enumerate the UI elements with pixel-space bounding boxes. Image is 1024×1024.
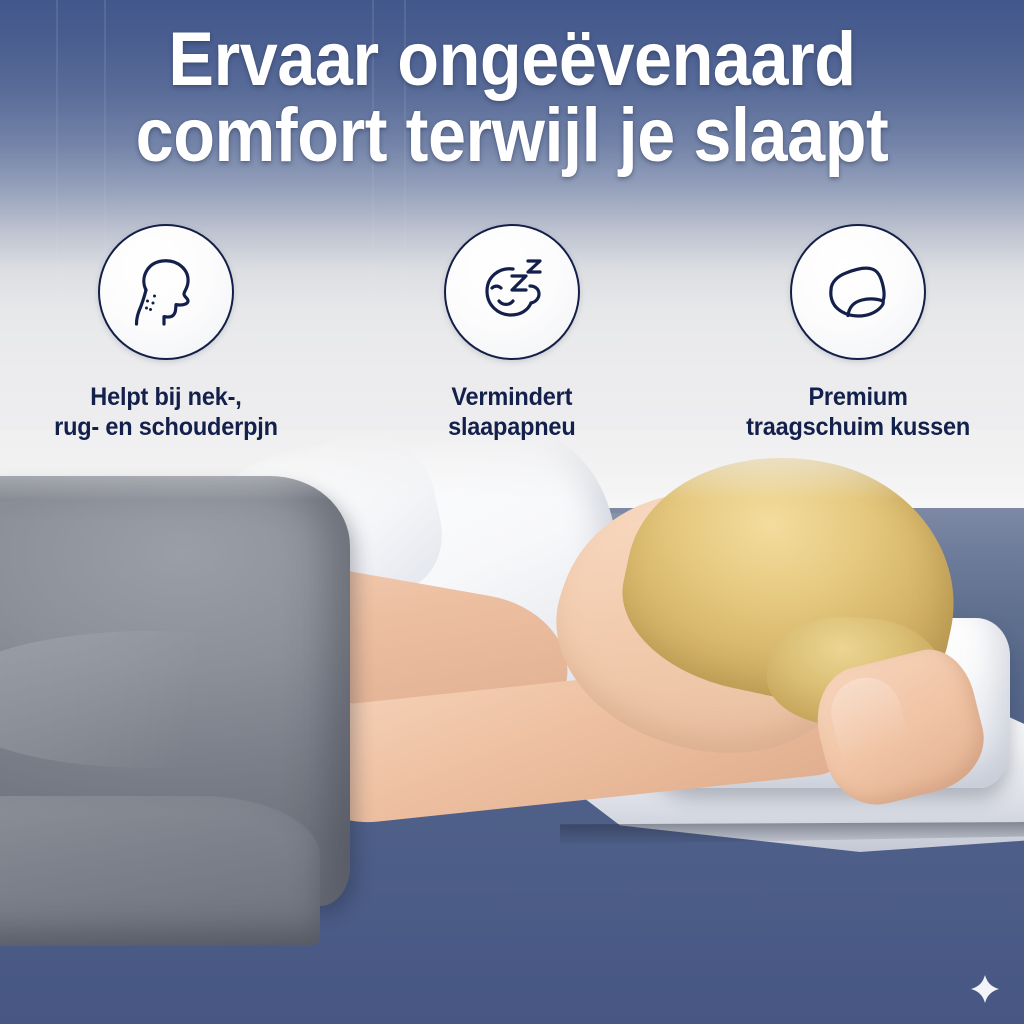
banner-stage: Ervaar ongeëvenaard comfort terwijl je s…: [0, 0, 1024, 1024]
sparkle-diamond-icon: [968, 972, 1002, 1006]
memory-foam-pillow-icon: [812, 246, 904, 338]
feature-item-premium-pillow: Premium traagschuim kussen: [718, 224, 998, 442]
sleeping-face-zzz-icon: [466, 246, 558, 338]
feature-item-sleep-apnea: Vermindert slaapapneu: [372, 224, 652, 442]
product-lifestyle-photo: [0, 430, 1024, 1024]
feature-label: Helpt bij nek-, rug- en schouderpjn: [54, 382, 278, 442]
feature-list: Helpt bij nek-, rug- en schouderpjn Verm…: [0, 224, 1024, 442]
page-title: Ervaar ongeëvenaard comfort terwijl je s…: [51, 22, 973, 174]
head-neck-pain-icon: [120, 246, 212, 338]
feature-badge: [790, 224, 926, 360]
feature-badge: [98, 224, 234, 360]
feature-badge: [444, 224, 580, 360]
feature-label: Premium traagschuim kussen: [746, 382, 970, 442]
grey-cushion-fold: [0, 796, 320, 946]
feature-item-neck-pain: Helpt bij nek-, rug- en schouderpjn: [26, 224, 306, 442]
feature-label: Vermindert slaapapneu: [448, 382, 575, 442]
